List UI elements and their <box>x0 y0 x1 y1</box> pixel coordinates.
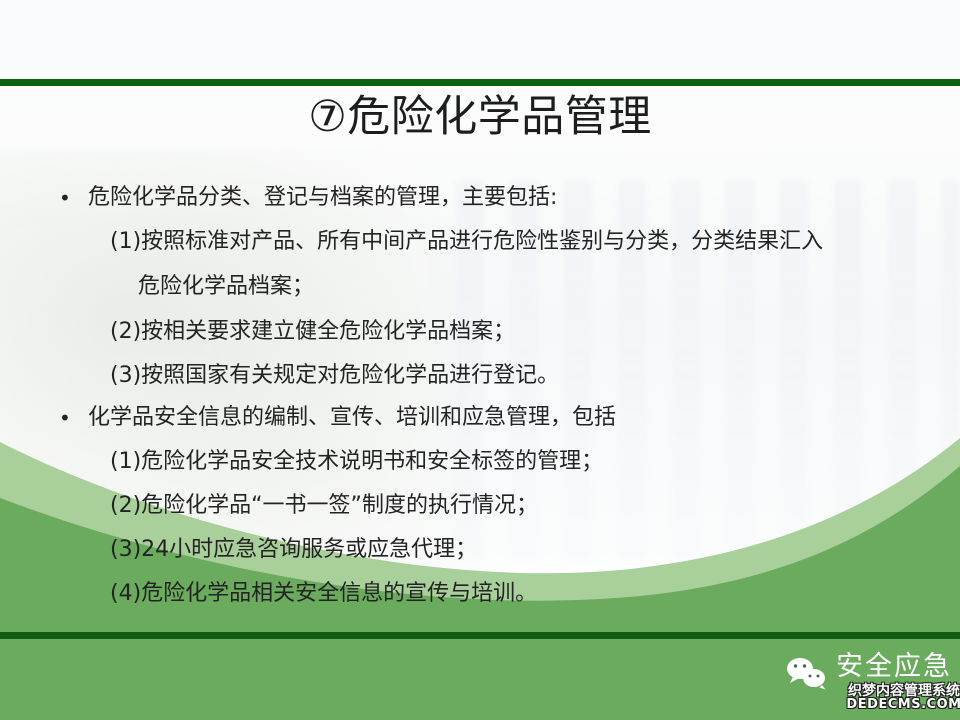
page-title: ⑦危险化学品管理 <box>0 92 960 143</box>
watermark-english: DEDECMS.COM <box>846 698 960 711</box>
sub-item-text: (1)按照标准对产品、所有中间产品进行危险性鉴别与分类，分类结果汇入 <box>110 229 823 254</box>
sub-item: (1)危险化学品安全技术说明书和安全标签的管理； <box>48 440 928 484</box>
sub-item: (2)危险化学品“一书一签”制度的执行情况； <box>48 484 928 528</box>
sub-item-text: (3)24小时应急咨询服务或应急代理； <box>110 537 477 562</box>
sub-item-text: (2)危险化学品“一书一签”制度的执行情况； <box>110 493 538 518</box>
sub-item: (3)24小时应急咨询服务或应急代理； <box>48 528 928 572</box>
bullet-dot-icon: • <box>59 178 71 218</box>
bullet-text: 化学品安全信息的编制、宣传、培训和应急管理，包括 <box>88 405 616 430</box>
brand-name: 安全应急 <box>836 650 952 684</box>
wechat-icon <box>784 656 830 690</box>
header-divider-rule <box>0 79 960 86</box>
sub-item: (4)危险化学品相关安全信息的宣传与培训。 <box>48 572 928 616</box>
footer-divider-rule <box>0 632 960 639</box>
sub-item: (2)按相关要求建立健全危险化学品档案； <box>48 310 928 354</box>
bullet-item: • 化学品安全信息的编制、宣传、培训和应急管理，包括 <box>48 398 928 438</box>
brand-block: 安全应急 织梦内容管理系统 DEDECMS.COM <box>784 650 960 720</box>
bullet-item: • 危险化学品分类、登记与档案的管理，主要包括: <box>48 178 928 218</box>
bullet-text: 危险化学品分类、登记与档案的管理，主要包括: <box>88 185 557 210</box>
sub-item-text: (4)危险化学品相关安全信息的宣传与培训。 <box>110 581 537 606</box>
sub-item-text: (2)按相关要求建立健全危险化学品档案； <box>110 319 515 344</box>
sub-item-continuation: 危险化学品档案； <box>110 264 928 310</box>
sub-item: (3)按照国家有关规定对危险化学品进行登记。 <box>48 354 928 398</box>
sub-item: (1)按照标准对产品、所有中间产品进行危险性鉴别与分类，分类结果汇入 危险化学品… <box>48 220 928 310</box>
watermark: 织梦内容管理系统 DEDECMS.COM <box>846 684 960 712</box>
sub-item-text: (3)按照国家有关规定对危险化学品进行登记。 <box>110 363 559 388</box>
watermark-chinese: 织梦内容管理系统 <box>846 684 960 698</box>
slide-body: • 危险化学品分类、登记与档案的管理，主要包括: (1)按照标准对产品、所有中间… <box>48 178 928 616</box>
sub-item-text: (1)危险化学品安全技术说明书和安全标签的管理； <box>110 449 603 474</box>
bullet-dot-icon: • <box>59 398 71 438</box>
slide-canvas: ⑦危险化学品管理 • 危险化学品分类、登记与档案的管理，主要包括: (1)按照标… <box>0 0 960 720</box>
